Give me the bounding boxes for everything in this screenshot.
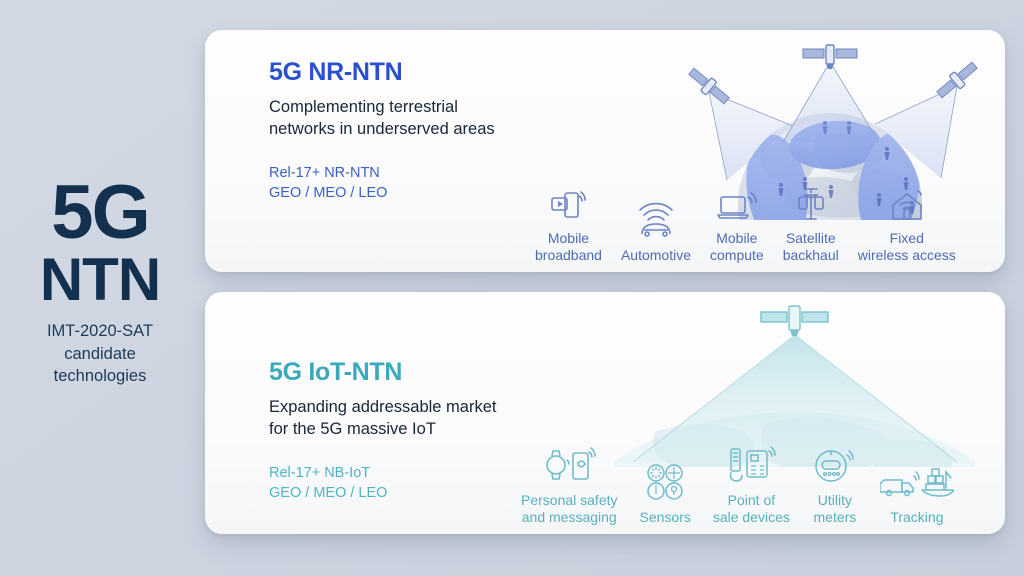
icon-label: Personal safety and messaging (521, 492, 618, 526)
card-iot-title: 5G IoT-NTN (269, 358, 569, 387)
card-iot-description: Expanding addressable market for the 5G … (269, 397, 589, 441)
satellite-beam-globe-illustration (615, 292, 975, 467)
icon-item-satellite-backhaul[interactable]: Satellite backhaul (783, 183, 839, 264)
icon-label: Fixed wireless access (858, 230, 956, 264)
infographic-canvas: 5G NTN IMT-2020-SAT candidate technologi… (0, 0, 1024, 576)
icon-item-automotive[interactable]: Automotive (621, 200, 691, 264)
brand-subtitle: IMT-2020-SAT candidate technologies (0, 320, 200, 388)
card-iot-ntn[interactable]: 5G IoT-NTN Expanding addressable market … (205, 292, 1005, 534)
icon-label: Mobile broadband (535, 230, 602, 264)
icon-item-sensors[interactable]: Sensors (640, 462, 691, 526)
sensors-icon (643, 462, 687, 504)
icon-label: Automotive (621, 247, 691, 264)
icon-item-mobile-broadband[interactable]: Mobile broadband (535, 183, 602, 264)
icon-item-utility-meters[interactable]: Utility meters (812, 445, 858, 526)
brand-5g: 5G (0, 178, 200, 248)
brand-ntn: NTN (0, 250, 200, 310)
personal-safety-messaging-icon (542, 445, 596, 487)
utility-meters-icon (812, 445, 858, 487)
card-nr-ntn[interactable]: 5G NR-NTN Complementing terrestrial netw… (205, 30, 1005, 272)
icon-item-tracking[interactable]: Tracking (880, 462, 954, 526)
icon-item-point-of-sale[interactable]: Point of sale devices (713, 445, 790, 526)
icon-label: Tracking (890, 509, 943, 526)
brand-block: 5G NTN IMT-2020-SAT candidate technologi… (0, 178, 200, 388)
icon-label: Sensors (640, 509, 691, 526)
card-iot-icon-strip: Personal safety and messaging (521, 445, 954, 526)
card-nr-description: Complementing terrestrial networks in un… (269, 97, 569, 141)
icon-label: Utility meters (814, 492, 857, 526)
mobile-compute-icon (715, 183, 759, 225)
automotive-icon (632, 200, 680, 242)
card-nr-text: 5G NR-NTN Complementing terrestrial netw… (269, 58, 569, 203)
icon-label: Satellite backhaul (783, 230, 839, 264)
card-nr-title: 5G NR-NTN (269, 58, 569, 87)
card-nr-release: Rel-17+ NR-NTN GEO / MEO / LEO (269, 163, 569, 204)
icon-item-personal-safety[interactable]: Personal safety and messaging (521, 445, 618, 526)
icon-item-mobile-compute[interactable]: Mobile compute (710, 183, 764, 264)
satellite-backhaul-icon (791, 183, 831, 225)
icon-label: Point of sale devices (713, 492, 790, 526)
fixed-wireless-access-icon (886, 183, 928, 225)
icon-item-fixed-wireless-access[interactable]: Fixed wireless access (858, 183, 956, 264)
tracking-icon (880, 462, 954, 504)
icon-label: Mobile compute (710, 230, 764, 264)
mobile-broadband-icon (548, 183, 588, 225)
card-nr-icon-strip: Mobile broadband Automotive (535, 183, 956, 264)
point-of-sale-devices-icon (725, 445, 777, 487)
